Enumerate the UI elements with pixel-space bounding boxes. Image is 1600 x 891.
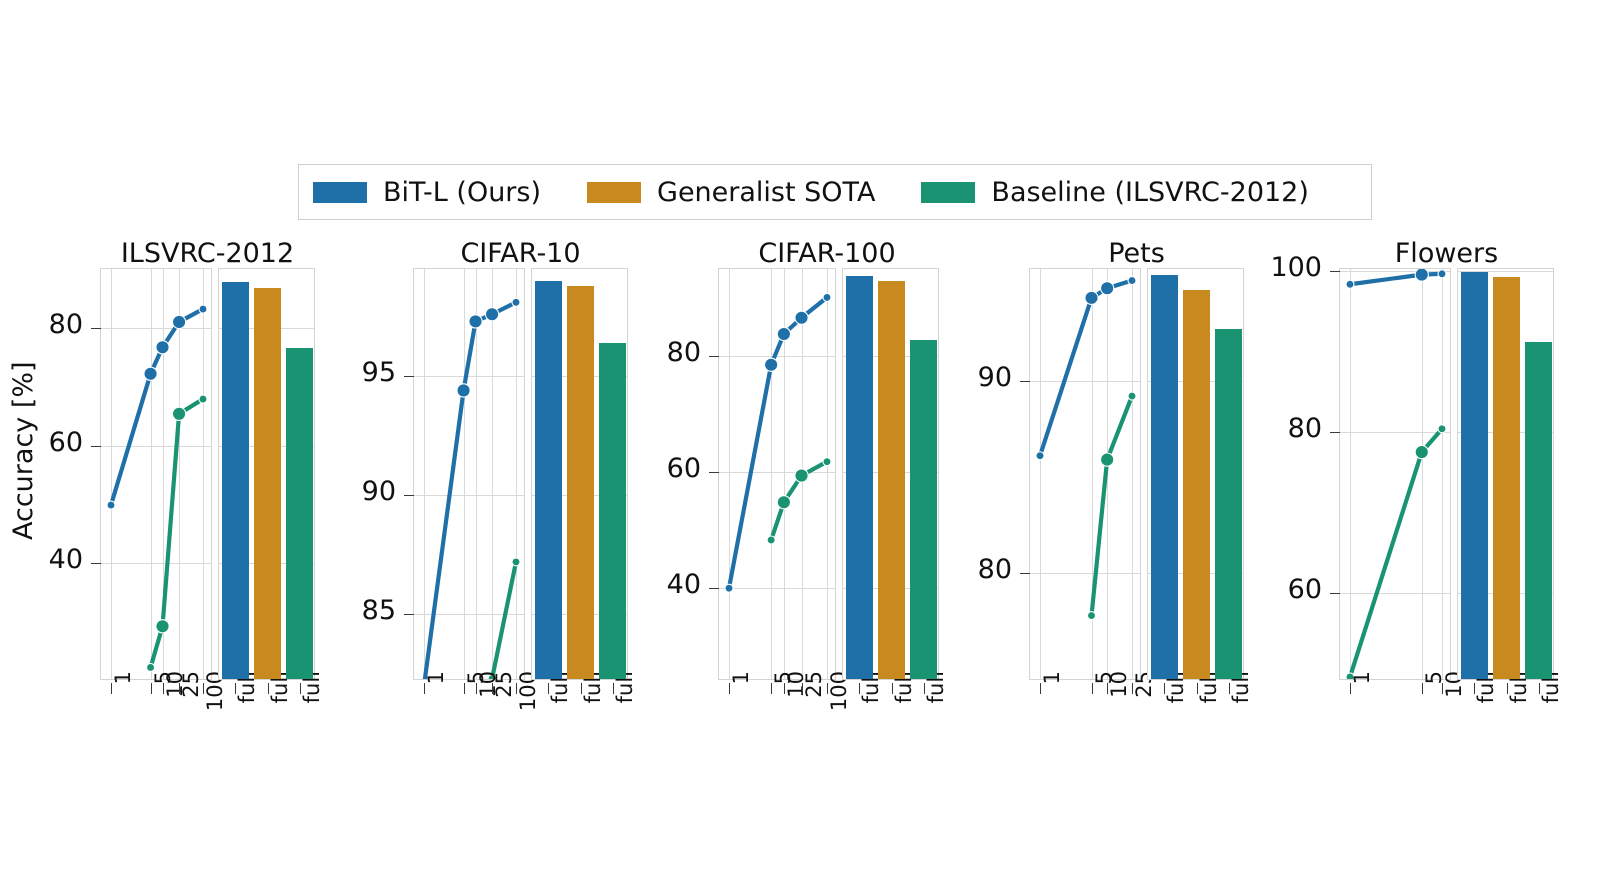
axes-wrap: 859095151025100fullfullfull [413,268,628,680]
y-tick-label: 60 [631,453,701,484]
y-tick-label: 80 [1252,413,1322,444]
legend-entry-1[interactable]: Generalist SOTA [587,179,875,206]
x-tick-label: full [1229,671,1253,731]
data-point [777,496,790,509]
bar-axes: fullfullfull [1147,268,1244,680]
data-point [777,327,790,340]
data-point [156,620,169,633]
bar-axes: fullfullfull [531,268,628,680]
bar-1 [1183,290,1210,679]
x-tick-label: full [1474,671,1498,731]
data-point [725,584,733,592]
bar-2 [1525,342,1552,679]
y-tick-mark [1020,573,1030,574]
data-point [1346,280,1354,288]
data-point [1085,291,1098,304]
y-tick-label: 100 [1252,252,1322,283]
y-tick-label: 90 [942,362,1012,393]
y-tick-label: 40 [13,544,83,575]
line-series-svg [719,269,835,679]
line-series-svg [101,269,211,679]
y-tick-mark [404,614,414,615]
y-tick-label: 60 [1252,574,1322,605]
legend-swatch-baseline [921,182,975,203]
line-axes: 60801001510 [1339,268,1451,680]
x-tick-label: full [235,671,259,731]
data-point [1438,270,1446,278]
legend-entry-2[interactable]: Baseline (ILSVRC-2012) [921,179,1308,206]
bar-plot-area [532,269,627,679]
bar-0 [222,282,249,679]
x-tick-label: 100 [827,671,851,731]
y-tick-mark [709,588,719,589]
x-tick-label: full [300,671,324,731]
x-tick-label: 10 [1107,671,1131,731]
bar-2 [286,348,313,679]
y-tick-mark [1330,432,1340,433]
bar-2 [1215,329,1242,679]
legend-entry-0[interactable]: BiT-L (Ours) [313,179,541,206]
x-tick-label: full [1539,671,1563,731]
y-tick-mark [709,472,719,473]
y-tick-mark [1020,381,1030,382]
x-tick-label: full [1197,671,1221,731]
y-tick-mark [1330,271,1340,272]
series-line-1 [1350,429,1442,677]
x-tick-label: 25 [179,671,203,731]
bar-axes: fullfullfull [218,268,315,680]
line-axes: 406080151025100 [100,268,212,680]
line-axes: 859095151025100 [413,268,525,680]
x-tick-label: 10 [1442,671,1466,731]
bar-axes: fullfullfull [842,268,939,680]
line-series-svg [1030,269,1140,679]
data-point [199,305,207,313]
x-tick-label: full [268,671,292,731]
data-point [1101,453,1114,466]
data-point [795,469,808,482]
bar-1 [567,286,594,679]
panel-title: Flowers [1339,238,1554,269]
data-point [172,315,185,328]
data-point [765,358,778,371]
axes-wrap: 60801001510fullfullfull [1339,268,1554,680]
x-tick-label: full [548,671,572,731]
x-tick-label: 100 [203,671,227,731]
data-point [1128,277,1136,285]
y-axis-label: Accuracy [%] [8,500,39,540]
y-tick-label: 80 [942,554,1012,585]
x-tick-label: 100 [516,671,540,731]
bar-plot-area [1458,269,1553,679]
line-plot-area [414,269,524,679]
data-point [512,298,520,306]
x-tick-label: 1 [111,671,135,731]
y-tick-label: 80 [13,309,83,340]
chart-legend: BiT-L (Ours)Generalist SOTABaseline (ILS… [298,164,1372,220]
legend-label-1: Generalist SOTA [657,179,875,206]
bar-plot-area [1148,269,1243,679]
x-tick-label: 25 [492,671,516,731]
data-point [144,367,157,380]
x-tick-label: full [892,671,916,731]
bar-plot-area [219,269,314,679]
bar-1 [1493,277,1520,679]
figure-root: BiT-L (Ours)Generalist SOTABaseline (ILS… [0,0,1600,891]
x-tick-label: 25 [1132,671,1156,731]
bar-axes: fullfullfull [1457,268,1554,680]
y-tick-label: 60 [13,427,83,458]
series-line-1 [1092,396,1132,615]
data-point [512,558,520,566]
data-point [823,293,831,301]
y-tick-label: 40 [631,569,701,600]
line-plot-area [101,269,211,679]
data-point [1415,269,1428,281]
panel-title: ILSVRC-2012 [100,238,315,269]
data-point [1101,282,1114,295]
panel-title: CIFAR-100 [718,238,936,269]
data-point [172,407,185,420]
line-series-svg [414,269,524,679]
bar-1 [254,288,281,679]
data-point [107,501,115,509]
data-point [767,536,775,544]
series-line-0 [729,297,827,588]
axes-wrap: 406080151025100fullfullfull [100,268,315,680]
y-tick-label: 80 [631,337,701,368]
x-tick-label: full [1507,671,1531,731]
data-point [485,308,498,321]
x-tick-label: full [613,671,637,731]
y-tick-mark [91,563,101,564]
y-tick-mark [1330,593,1340,594]
data-point [823,458,831,466]
x-tick-label: 1 [424,671,448,731]
axes-wrap: 8090151025fullfullfull [1029,268,1244,680]
data-point [1088,612,1096,620]
bar-0 [846,276,873,679]
bar-0 [535,281,562,679]
x-tick-label: 1 [729,671,753,731]
line-plot-area [1030,269,1140,679]
legend-swatch-generalist-sota [587,182,641,203]
data-point [1036,452,1044,460]
y-tick-mark [404,495,414,496]
data-point [469,315,482,328]
bar-0 [1461,272,1488,679]
panel-title: Pets [1029,238,1244,269]
data-point [457,384,470,397]
panel-title: CIFAR-10 [413,238,628,269]
line-axes: 406080151025100 [718,268,836,680]
y-tick-mark [709,356,719,357]
axes-wrap: 406080151025100fullfullfull [718,268,936,680]
y-tick-label: 90 [326,476,396,507]
bar-0 [1151,275,1178,679]
line-axes: 8090151025 [1029,268,1141,680]
data-point [1128,392,1136,400]
x-tick-label: 1 [1040,671,1064,731]
bar-2 [910,340,937,679]
data-point [199,395,207,403]
y-tick-mark [404,376,414,377]
legend-swatch-bit-l [313,182,367,203]
data-point [1415,446,1428,459]
bar-2 [599,343,626,679]
legend-label-2: Baseline (ILSVRC-2012) [991,179,1308,206]
data-point [156,341,169,354]
line-plot-area [719,269,835,679]
bar-plot-area [843,269,938,679]
y-tick-mark [91,328,101,329]
legend-label-0: BiT-L (Ours) [383,179,541,206]
x-tick-label: full [924,671,948,731]
y-tick-label: 85 [326,595,396,626]
x-tick-label: full [1164,671,1188,731]
x-tick-label: 25 [802,671,826,731]
data-point [795,311,808,324]
x-tick-label: full [581,671,605,731]
x-tick-label: 1 [1350,671,1374,731]
bar-1 [878,281,905,679]
line-series-svg [1340,269,1450,679]
series-line-1 [492,562,516,679]
line-plot-area [1340,269,1450,679]
y-tick-label: 95 [326,357,396,388]
x-tick-label: full [859,671,883,731]
y-tick-mark [91,446,101,447]
data-point [1438,425,1446,433]
